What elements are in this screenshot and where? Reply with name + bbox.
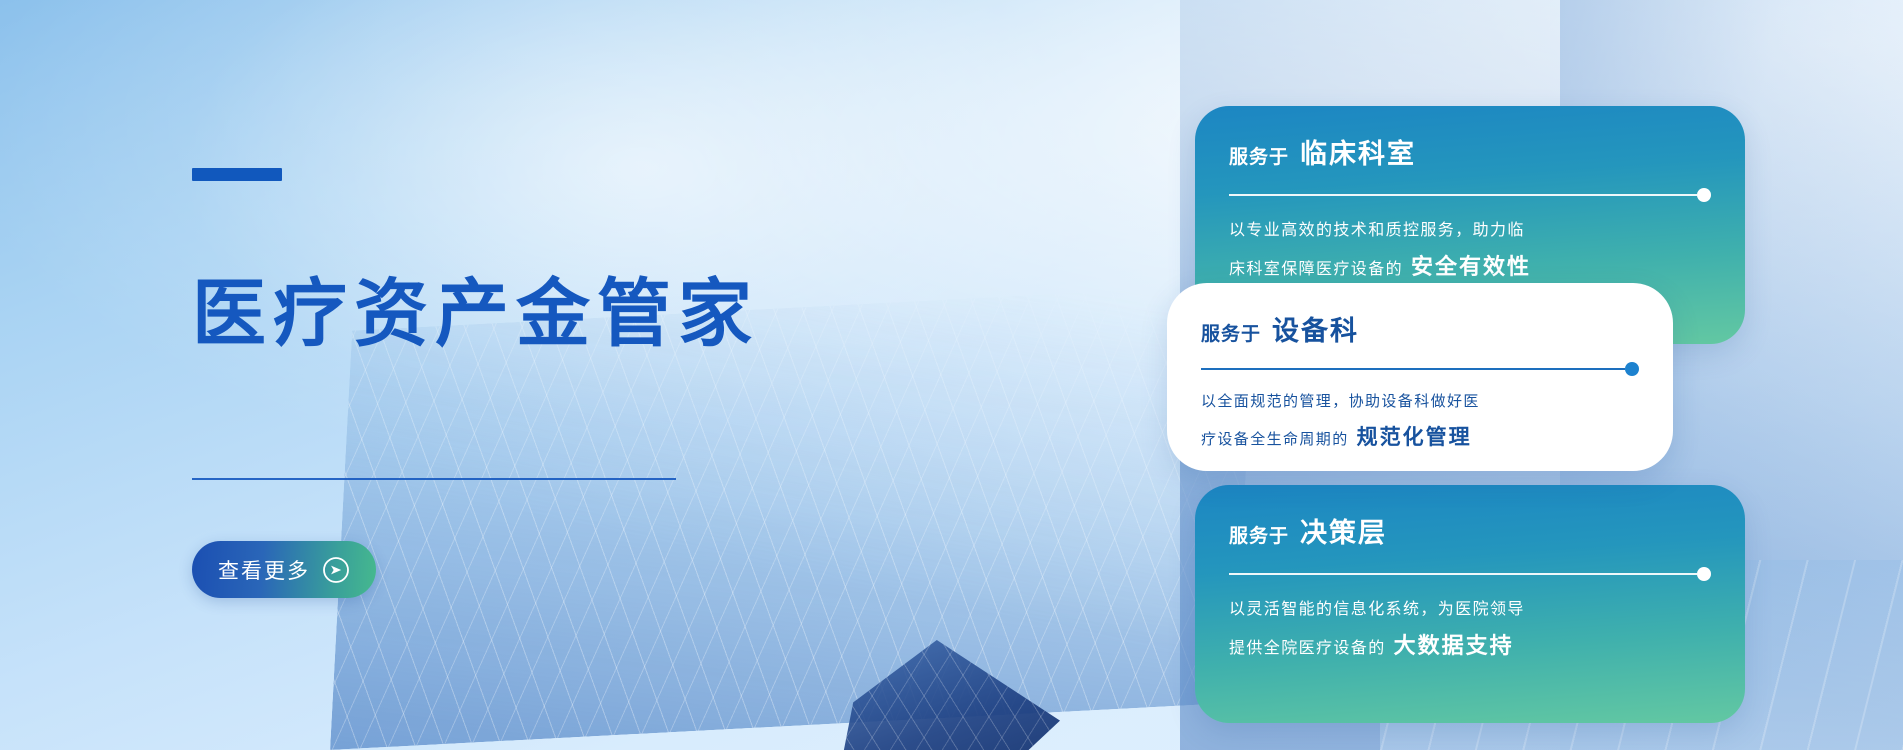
card-line-2-prefix: 疗设备全生命周期的 xyxy=(1201,430,1349,448)
service-card-equipment[interactable]: 服务于 设备科 以全面规范的管理，协助设备科做好医 疗设备全生命周期的规范化管理 xyxy=(1167,283,1673,471)
card-divider xyxy=(1201,362,1639,376)
card-heading: 服务于 设备科 xyxy=(1201,309,1639,348)
card-line-2: 床科室保障医疗设备的安全有效性 xyxy=(1229,251,1711,284)
divider-line xyxy=(1201,368,1625,370)
card-line-1: 以全面规范的管理，协助设备科做好医 xyxy=(1201,390,1639,413)
page-title: 医疗资产金管家 xyxy=(192,277,759,351)
circle-arrow-right-icon xyxy=(322,556,350,584)
card-kicker: 服务于 xyxy=(1201,319,1261,346)
divider-knob-icon xyxy=(1625,362,1639,376)
horizontal-divider xyxy=(192,478,676,480)
card-subject: 临床科室 xyxy=(1300,132,1416,171)
divider-knob-icon xyxy=(1697,567,1711,581)
card-line-2: 疗设备全生命周期的规范化管理 xyxy=(1201,422,1639,454)
card-line-2: 提供全院医疗设备的大数据支持 xyxy=(1229,630,1711,663)
divider-line xyxy=(1229,194,1697,196)
card-heading: 服务于 临床科室 xyxy=(1229,132,1711,171)
divider-knob-icon xyxy=(1697,188,1711,202)
card-line-1: 以专业高效的技术和质控服务，助力临 xyxy=(1229,218,1711,242)
card-kicker: 服务于 xyxy=(1229,142,1289,169)
card-divider xyxy=(1229,567,1711,581)
divider-line xyxy=(1229,573,1697,575)
card-line-2-prefix: 提供全院医疗设备的 xyxy=(1229,638,1386,657)
card-body: 以灵活智能的信息化系统，为医院领导 提供全院医疗设备的大数据支持 xyxy=(1229,597,1711,663)
card-body: 以专业高效的技术和质控服务，助力临 床科室保障医疗设备的安全有效性 xyxy=(1229,218,1711,284)
view-more-button[interactable]: 查看更多 xyxy=(192,541,376,598)
card-line-2-emphasis: 大数据支持 xyxy=(1394,634,1514,659)
service-card-decision[interactable]: 服务于 决策层 以灵活智能的信息化系统，为医院领导 提供全院医疗设备的大数据支持 xyxy=(1195,485,1745,723)
card-line-1: 以灵活智能的信息化系统，为医院领导 xyxy=(1229,597,1711,621)
accent-dash xyxy=(192,168,282,181)
card-line-2-emphasis: 规范化管理 xyxy=(1357,425,1472,449)
card-heading: 服务于 决策层 xyxy=(1229,511,1711,550)
hero-content-column: 医疗资产金管家 查看更多 xyxy=(192,0,812,750)
card-divider xyxy=(1229,188,1711,202)
card-line-2-prefix: 床科室保障医疗设备的 xyxy=(1229,259,1403,278)
card-subject: 设备科 xyxy=(1272,309,1359,348)
card-body: 以全面规范的管理，协助设备科做好医 疗设备全生命周期的规范化管理 xyxy=(1201,390,1639,453)
card-kicker: 服务于 xyxy=(1229,521,1289,548)
card-subject: 决策层 xyxy=(1300,511,1387,550)
view-more-label: 查看更多 xyxy=(218,555,310,585)
card-line-2-emphasis: 安全有效性 xyxy=(1411,255,1531,280)
hero-banner: 医疗资产金管家 查看更多 服务于 临床科室 以专业高效的技术和质控服务，助力临 … xyxy=(0,0,1903,750)
